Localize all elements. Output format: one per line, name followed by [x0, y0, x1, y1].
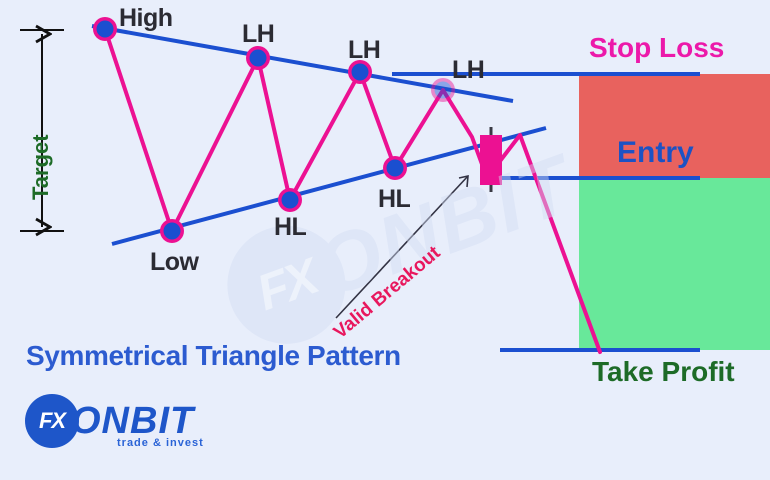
candle-body [480, 135, 502, 185]
pivot-label-2: LH [242, 20, 274, 49]
stop-loss-label: Stop Loss [589, 32, 724, 64]
pivot-label-5: HL [378, 185, 410, 214]
pivot-dot [97, 21, 114, 38]
pivot-marker-1 [160, 219, 184, 243]
take-profit-label: Take Profit [592, 356, 735, 388]
target-measure-layer [20, 30, 64, 231]
pivot-label-3: HL [274, 213, 306, 242]
pivot-label-0: High [119, 4, 173, 33]
pivot-dot [164, 223, 181, 240]
pivot-marker-3 [278, 188, 302, 212]
target-label: Target [28, 134, 54, 200]
pivot-dot [352, 64, 369, 81]
pivot-dot [250, 50, 267, 67]
brand-logo: FX ONBIT trade & invest [25, 392, 255, 454]
pivot-dot [282, 192, 299, 209]
logo-tagline: trade & invest [117, 437, 204, 449]
pivot-dot [387, 160, 404, 177]
pivot-marker-2 [246, 46, 270, 70]
pivot-label-1: Low [150, 248, 199, 277]
page-title: Symmetrical Triangle Pattern [26, 340, 401, 372]
breakout-candle-layer [480, 127, 502, 192]
zones-layer [579, 74, 770, 350]
pivot-label-6: LH [452, 56, 484, 85]
pivot-dot [435, 82, 452, 99]
entry-label: Entry [617, 136, 694, 170]
pivot-marker-5 [383, 156, 407, 180]
take-profit-zone [579, 178, 770, 350]
chart-canvas: FX ONBIT HighLowLHHLLHHLLH Target Stop L… [0, 0, 770, 480]
pivot-label-4: LH [348, 36, 380, 65]
pivot-marker-0 [93, 17, 117, 41]
